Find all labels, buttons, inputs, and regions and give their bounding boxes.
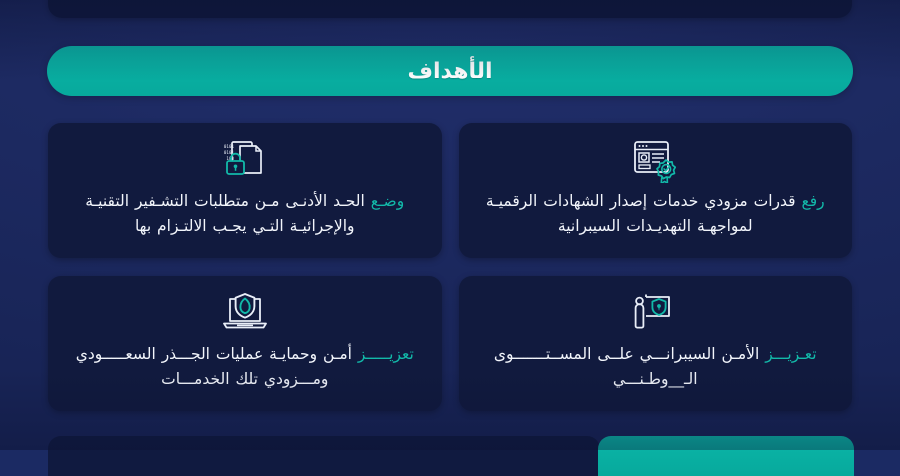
objective-card-4[interactable]: تعزيـــــز أمـن وحمايـة عمليات الجـــذر … (48, 276, 442, 411)
encrypted-documents-lock-icon: 0101 0101 100 101 (215, 137, 275, 185)
objective-card-1-highlight: رفع (801, 192, 824, 210)
certificate-browser-icon (625, 137, 685, 185)
bottom-dark-card (48, 436, 600, 476)
objective-card-2-highlight: وضـع (371, 192, 404, 210)
objectives-header-banner: الأهداف (47, 46, 853, 96)
objective-card-3-body: الأمـن السيبرانـــي علــى المســتـــــــ… (494, 345, 765, 388)
laptop-shield-icon (215, 290, 275, 338)
objectives-card-grid: رفع قدرات مزودي خدمات إصدار الشهادات الر… (48, 123, 852, 411)
objective-card-3-text: تعـزيـــز الأمـن السيبرانـــي علــى المس… (473, 342, 839, 392)
objective-card-4-text: تعزيـــــز أمـن وحمايـة عمليات الجـــذر … (62, 342, 428, 392)
bottom-teal-card (598, 436, 854, 476)
objective-card-1-body: قدرات مزودي خدمات إصدار الشهادات الرقميـ… (486, 192, 802, 235)
page-background: الأهداف (0, 0, 900, 450)
objective-card-1[interactable]: رفع قدرات مزودي خدمات إصدار الشهادات الر… (459, 123, 853, 258)
objective-card-1-text: رفع قدرات مزودي خدمات إصدار الشهادات الر… (473, 189, 839, 239)
objective-card-2-body: الحـد الأدنـى مـن متطلبات التشـفير التقن… (85, 192, 370, 235)
objective-card-4-highlight: تعزيـــــز (358, 345, 414, 363)
objective-card-2-text: وضـع الحـد الأدنـى مـن متطلبات التشـفير … (62, 189, 428, 239)
svg-text:0101: 0101 (224, 144, 235, 149)
page-title: الأهداف (407, 59, 492, 84)
person-shield-board-icon (625, 290, 685, 338)
objective-card-3[interactable]: تعـزيـــز الأمـن السيبرانـــي علــى المس… (459, 276, 853, 411)
objective-card-3-highlight: تعـزيـــز (765, 345, 816, 363)
objective-card-4-body: أمـن وحمايـة عمليات الجـــذر السعـــــود… (76, 345, 358, 388)
top-cutoff-card (48, 0, 852, 18)
objective-card-2[interactable]: 0101 0101 100 101 وضـع الحـد الأدنـى مـن… (48, 123, 442, 258)
